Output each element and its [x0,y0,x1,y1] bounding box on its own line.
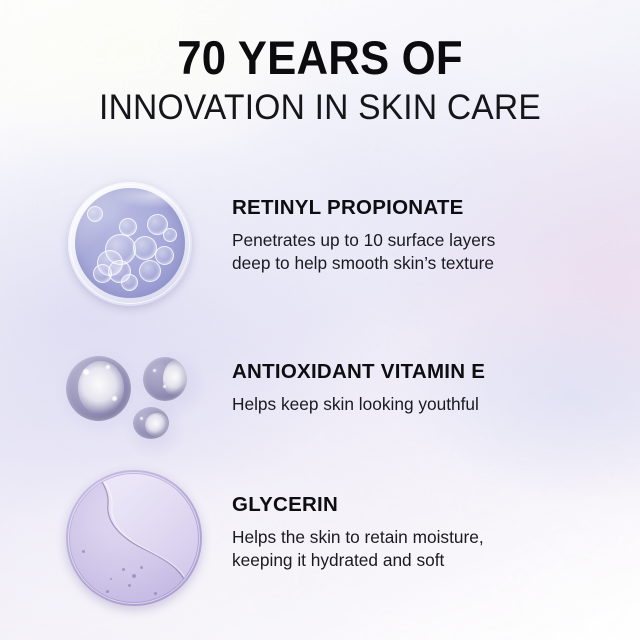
ingredient-copy: ANTIOXIDANT VITAMIN E Helps keep skin lo… [232,361,572,416]
droplet-large [66,356,131,421]
title-line-1: 70 YEARS OF [22,34,617,83]
gel-dish-fill [70,474,198,602]
ingredient-description: Helps keep skin looking youthful [232,393,572,416]
ingredient-description-line-1: Helps the skin to retain moisture, [232,526,572,549]
ingredient-name: RETINYL PROPIONATE [232,197,572,220]
droplet-small [133,407,169,439]
ingredient-name: ANTIOXIDANT VITAMIN E [232,361,572,384]
ingredient-copy: GLYCERIN Helps the skin to retain moistu… [232,494,572,572]
ingredient-row-glycerin: GLYCERIN Helps the skin to retain moistu… [0,466,640,621]
ingredient-row-antioxidant-vitamin-e: ANTIOXIDANT VITAMIN E Helps keep skin lo… [0,336,640,456]
ingredient-description: Penetrates up to 10 surface layers deep … [232,229,572,276]
ingredient-description-line-2: deep to help smooth skin’s texture [232,252,572,275]
gel-swirl [70,474,198,602]
skincare-ingredient-poster: 70 YEARS OF INNOVATION IN SKIN CARE [0,0,640,640]
ingredient-row-retinyl-propionate: RETINYL PROPIONATE Penetrates up to 10 s… [0,176,640,316]
dish-liquid [75,188,185,298]
poster-heading: 70 YEARS OF INNOVATION IN SKIN CARE [0,34,640,126]
ingredient-copy: RETINYL PROPIONATE Penetrates up to 10 s… [232,197,572,275]
droplet-medium [143,357,187,401]
ingredient-description-line-1: Penetrates up to 10 surface layers [232,229,572,252]
ingredient-description-line-2: keeping it hydrated and soft [232,549,572,572]
ingredient-name: GLYCERIN [232,494,572,517]
ingredient-description-line-1: Helps keep skin looking youthful [232,393,572,416]
ingredient-description: Helps the skin to retain moisture, keepi… [232,526,572,573]
title-line-2: INNOVATION IN SKIN CARE [13,89,627,126]
